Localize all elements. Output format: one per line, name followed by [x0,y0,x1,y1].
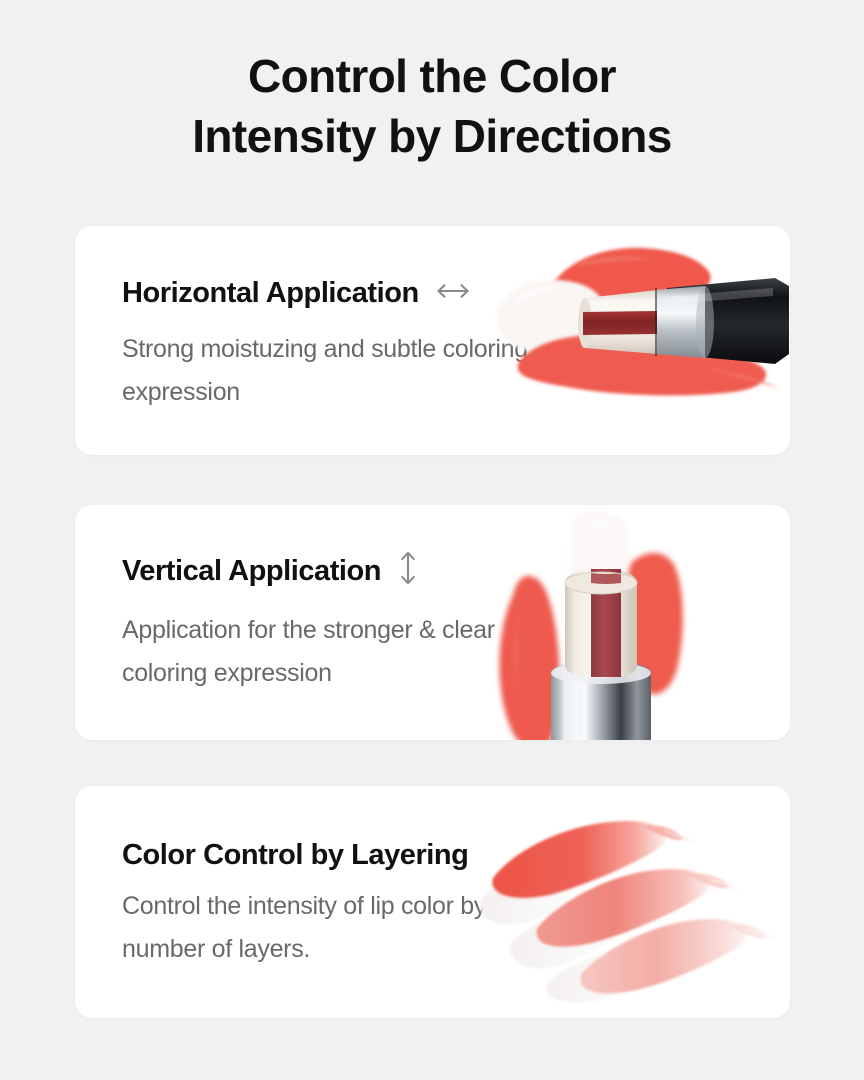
layered-swatch-strokes-image [475,804,790,1004]
vertical-double-arrow-icon [398,550,418,591]
card-title: Vertical Application [122,554,381,588]
feature-card-vertical-application: Vertical Application Application for the… [75,505,790,740]
lipstick-vertical-swatch-image [455,505,790,740]
feature-card-horizontal-application: Horizontal Application Strong moistuzing… [75,226,790,455]
card-title: Horizontal Application [122,276,419,310]
card-title: Color Control by Layering [122,838,468,872]
page-title: Control the Color Intensity by Direction… [0,46,864,166]
feature-card-color-control-by-layering: Color Control by Layering Control the in… [75,786,790,1018]
page-title-line-1: Control the Color [0,46,864,106]
product-feature-page: Control the Color Intensity by Direction… [0,0,864,1080]
page-title-line-2: Intensity by Directions [0,106,864,166]
lipstick-horizontal-swatch-image [457,226,790,455]
